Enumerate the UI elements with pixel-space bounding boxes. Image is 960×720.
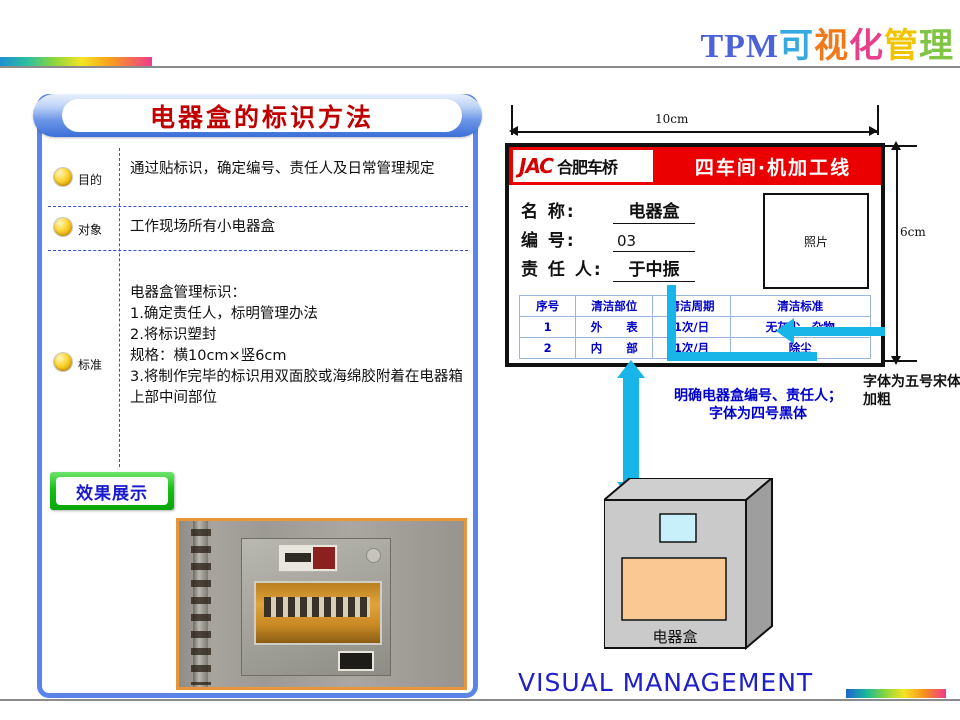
jac-logo-chinese: 合肥车桥 [557,154,617,178]
callout-arrow-table-shaft [790,327,885,336]
field-label-owner: 责 任 人: [521,255,613,280]
label-card-header: JAC 合肥车桥 四车间·机加工线 [509,147,881,185]
cell-area-1: 外 表 [576,317,653,338]
photo-stains [191,529,211,685]
box3d-label-sticker [660,514,696,542]
tpm-banner-title: TPM可视化管理 [700,18,954,67]
electrical-box-diagram: 电器盒 [604,478,794,648]
column-divider [119,148,120,467]
dimension-label-width: 10cm [655,112,688,126]
left-panel-title-plate: 电器盒的标识方法 [62,99,462,132]
cell-index-1: 1 [520,317,576,338]
dimension-line-height [896,146,898,361]
field-row-name: 名 称: 电器盒 [521,197,695,224]
cell-index-2: 2 [520,338,576,359]
callout-connector-horizontal [667,352,817,361]
row-divider-2 [48,250,468,251]
annotation-font-size: 字体为五号宋体加粗 [863,374,960,409]
jac-logo-text: JAC [519,154,553,178]
field-label-number: 编 号: [521,226,613,251]
cell-area-2: 内 部 [576,338,653,359]
field-value-owner: 于中振 [613,255,695,282]
label-card-photo-placeholder: 照片 [763,193,869,289]
bottom-divider-line [0,699,960,701]
table-header-cycle: 清洁周期 [653,296,730,317]
photo-cabinet-label [278,544,338,572]
table-header-index: 序号 [520,296,576,317]
callout-arrow-table-head [776,318,794,344]
placement-arrow-shaft [623,375,639,487]
bullet-icon-target [54,218,72,236]
bottom-rainbow-bar [846,689,946,698]
field-label-name: 名 称: [521,197,613,222]
row-text-standard: 电器盒管理标识： 1.确定责任人，标明管理办法 2.将标识塑封 规格：横10cm… [130,283,466,409]
row-label-standard: 标准 [78,356,102,373]
photo-circuit-breakers [264,597,370,617]
photo-cabinet-window [254,581,382,645]
callout-connector-vertical [667,285,676,360]
box3d-top-face [604,478,772,500]
dimension-arrow-right [869,126,878,136]
photo-electrical-cabinet [241,538,391,676]
field-value-name: 电器盒 [613,197,695,224]
photo-cabinet-sticker [338,651,374,671]
photo-cabinet-label-red [313,547,335,569]
cell-cycle-1: 1次/日 [653,317,730,338]
left-panel-content-table: 目的 通过贴标识，确定编号、责任人及日常管理规定 对象 工作现场所有小电器盒 标… [48,148,468,467]
bullet-icon-standard [54,353,72,371]
table-header-area: 清洁部位 [576,296,653,317]
table-header-standard: 清洁标准 [730,296,870,317]
bullet-icon-purpose [54,168,72,186]
field-value-number: 03 [613,232,695,252]
dimension-arrow-left [509,126,518,136]
row-text-target: 工作现场所有小电器盒 [130,218,460,238]
jac-logo: JAC 合肥车桥 [513,150,653,182]
effect-badge-label: 效果展示 [76,479,148,504]
field-row-number: 编 号: 03 [521,226,695,252]
box3d-panel [622,558,726,620]
page-title: 电器盒的标识方法 [150,98,374,134]
placement-arrow-head-up [617,360,645,378]
dimension-arrow-up [891,141,901,150]
photo-cabinet-knob [366,548,381,563]
row-text-purpose: 通过贴标识，确定编号、责任人及日常管理规定 [130,160,460,180]
electrical-box-photo [176,518,467,690]
annotation-box-number: 明确电器盒编号、责任人；字体为四号黑体 [673,388,843,423]
box3d-side-face [746,478,772,648]
top-rainbow-bar [0,57,152,66]
field-row-owner: 责 任 人: 于中振 [521,255,695,282]
box3d-caption: 电器盒 [604,626,746,647]
dimension-line-width [512,131,878,133]
table-header-row: 序号 清洁部位 清洁周期 清洁标准 [520,296,871,317]
label-card-header-title: 四车间·机加工线 [669,147,877,185]
row-label-target: 对象 [78,221,102,238]
top-divider-line [0,66,490,68]
row-divider-1 [48,206,468,207]
row-label-purpose: 目的 [78,171,102,188]
dimension-label-height: 6cm [900,225,926,239]
effect-badge: 效果展示 [56,477,168,505]
photo-cabinet-tag [285,553,311,562]
footer-visual-management: VISUAL MANAGEMENT [518,668,813,697]
dimension-arrow-down [891,356,901,365]
